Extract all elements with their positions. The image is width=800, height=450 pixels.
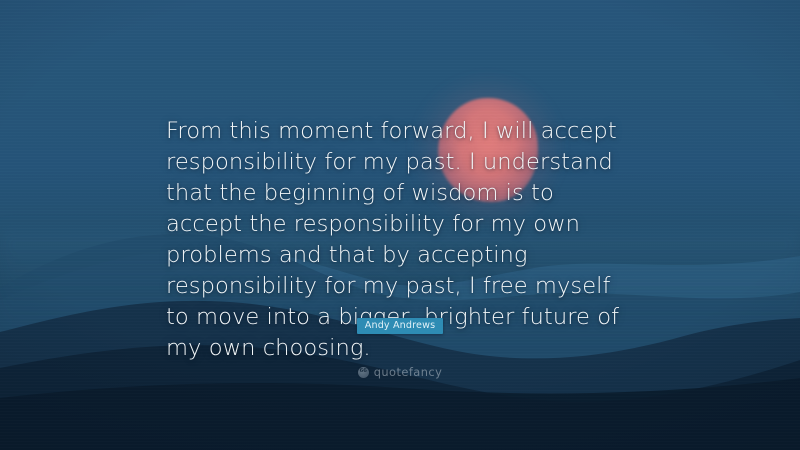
quote-wallpaper: From this moment forward, I will accept … <box>0 0 800 450</box>
quotefancy-badge-icon: 66 <box>358 367 369 378</box>
watermark[interactable]: 66 quotefancy <box>0 365 800 379</box>
content-layer: From this moment forward, I will accept … <box>0 0 800 450</box>
author-name-badge[interactable]: Andy Andrews <box>357 318 443 334</box>
watermark-brand-label: quotefancy <box>374 365 443 379</box>
quote-mark-glyph: 66 <box>359 369 366 375</box>
author-attribution: Andy Andrews <box>0 315 800 334</box>
